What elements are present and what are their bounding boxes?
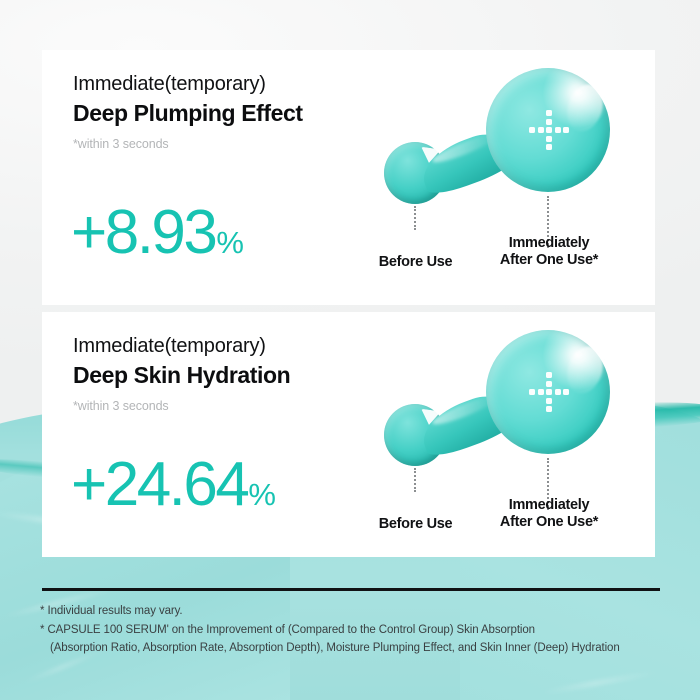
plus-dot (529, 127, 535, 133)
label-after-line2: After One Use* (474, 252, 624, 269)
card-headline: Deep Plumping Effect (73, 99, 303, 127)
label-before-use: Before Use (368, 254, 463, 271)
stat-unit: % (248, 477, 275, 512)
footnote-line-1: * Individual results may vary. (40, 602, 665, 621)
footnotes-block: * Individual results may vary. * CAPSULE… (40, 602, 665, 658)
plus-dot (529, 389, 535, 395)
plus-dot (546, 119, 552, 125)
plus-dot (546, 389, 552, 395)
infographic-stage: Immediate(temporary) Deep Plumping Effec… (0, 0, 700, 700)
droplet-comparison-graphic: Before Use Immediately After One Use* (368, 318, 643, 550)
card-headline: Deep Skin Hydration (73, 361, 290, 389)
leader-line-before (414, 468, 416, 492)
plus-dot (555, 389, 561, 395)
plus-dot (546, 381, 552, 387)
footer-divider (42, 588, 660, 591)
stat-value: +8.93 (71, 198, 215, 267)
gel-streak (540, 670, 659, 696)
card-kicker: Immediate(temporary) (73, 334, 290, 360)
label-after-line1: Immediately (474, 235, 624, 252)
card-kicker: Immediate(temporary) (73, 72, 303, 98)
plus-dots-icon (525, 368, 571, 414)
card-text-block: Immediate(temporary) Deep Skin Hydration… (73, 334, 290, 413)
label-after-line2: After One Use* (474, 514, 624, 531)
claim-card-hydration: Immediate(temporary) Deep Skin Hydration… (42, 312, 655, 557)
card-subnote: *within 3 seconds (73, 399, 290, 413)
plus-dot (538, 389, 544, 395)
label-after-line1: Immediately (474, 497, 624, 514)
droplet-comparison-graphic: Before Use Immediately After One Use* (368, 56, 643, 288)
footnote-line-2: * CAPSULE 100 SERUM' on the Improvement … (40, 621, 665, 640)
claim-card-plumping: Immediate(temporary) Deep Plumping Effec… (42, 50, 655, 305)
footnote-line-3: (Absorption Ratio, Absorption Rate, Abso… (40, 639, 665, 658)
stat-figure: +24.64% (71, 454, 275, 516)
plus-dot (546, 398, 552, 404)
plus-dot (546, 127, 552, 133)
stat-figure: +8.93% (71, 202, 243, 264)
stat-value: +24.64 (71, 450, 247, 519)
label-after-one-use: Immediately After One Use* (474, 497, 624, 532)
plus-dot (546, 406, 552, 412)
plus-dot (538, 127, 544, 133)
plus-dot (546, 372, 552, 378)
graphic-labels: Before Use Immediately After One Use* (368, 232, 643, 278)
droplet-triangle-highlight (419, 409, 441, 427)
plus-dot (563, 127, 569, 133)
plus-dot (546, 136, 552, 142)
plus-dot (555, 127, 561, 133)
plus-dot (546, 110, 552, 116)
leader-line-before (414, 206, 416, 230)
plus-dot (546, 144, 552, 150)
droplet-triangle-highlight (419, 147, 441, 165)
card-subnote: *within 3 seconds (73, 137, 303, 151)
plus-dot (563, 389, 569, 395)
plus-dots-icon (525, 106, 571, 152)
stat-unit: % (216, 225, 243, 260)
label-after-one-use: Immediately After One Use* (474, 235, 624, 270)
label-before-use: Before Use (368, 516, 463, 533)
graphic-labels: Before Use Immediately After One Use* (368, 494, 643, 540)
card-text-block: Immediate(temporary) Deep Plumping Effec… (73, 72, 303, 151)
